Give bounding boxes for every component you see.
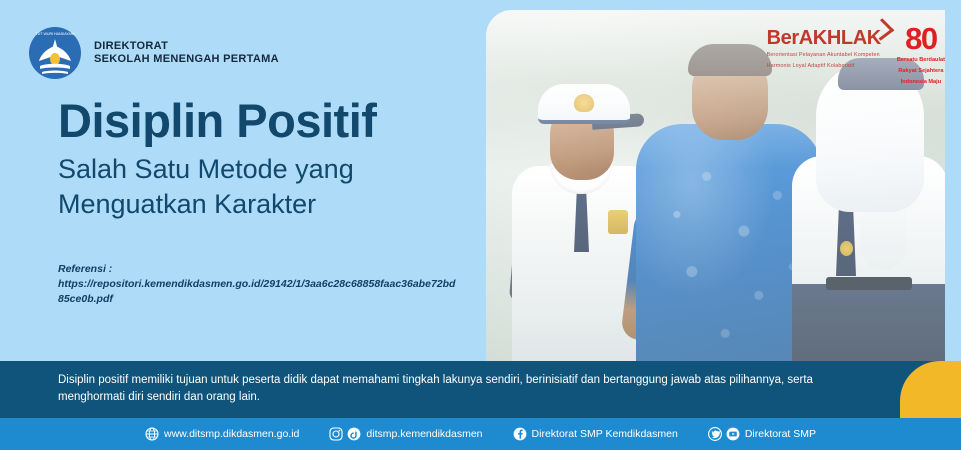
anniversary-tagline-line2: Rakyat Sejahtera bbox=[897, 67, 945, 75]
berakhlak-suffix: AKHLAK bbox=[799, 27, 881, 49]
header-title-group: DIREKTORAT SEKOLAH MENENGAH PERTAMA bbox=[94, 40, 279, 67]
tiktok-icon bbox=[347, 427, 361, 441]
brand-logo-row: BerAKHLAK Berorientasi Pelayanan Akuntab… bbox=[767, 26, 945, 86]
social-media-bar: www.ditsmp.dikdasmen.go.id bbox=[0, 418, 961, 450]
berakhlak-prefix: Ber bbox=[767, 27, 799, 49]
anniversary-tagline-line3: Indonesia Maju bbox=[897, 78, 945, 86]
social-item-instagram-tiktok[interactable]: ditsmp.kemendikdasmen bbox=[329, 427, 482, 441]
globe-icon bbox=[145, 427, 159, 441]
social-item-facebook[interactable]: Direktorat SMP Kemdikdasmen bbox=[513, 427, 678, 441]
social-label-website: www.ditsmp.dikdasmen.go.id bbox=[164, 428, 299, 440]
reference-url[interactable]: https://repositori.kemendikdasmen.go.id/… bbox=[58, 278, 455, 305]
reference-label: Referensi : bbox=[58, 262, 458, 277]
instagram-icon bbox=[329, 427, 343, 441]
page-title: Disiplin Positif bbox=[58, 96, 428, 145]
berakhlak-tagline-line1: Berorientasi Pelayanan Akuntabel Kompete… bbox=[767, 51, 881, 59]
promotional-banner: TUT WURI HANDAYANI DIREKTORAT SEKOLAH ME… bbox=[0, 0, 961, 450]
berakhlak-wordmark: BerAKHLAK bbox=[767, 28, 881, 48]
twitter-icon bbox=[708, 427, 722, 441]
description-text: Disiplin positif memiliki tujuan untuk p… bbox=[58, 372, 878, 407]
banner-header: TUT WURI HANDAYANI DIREKTORAT SEKOLAH ME… bbox=[28, 26, 279, 80]
reference-block: Referensi : https://repositori.kemendikd… bbox=[58, 262, 458, 308]
facebook-icon bbox=[513, 427, 527, 441]
header-line-directorate: DIREKTORAT bbox=[94, 40, 279, 53]
hero-title-block: Disiplin Positif Salah Satu Metode yang … bbox=[58, 96, 428, 221]
berakhlak-logo: BerAKHLAK Berorientasi Pelayanan Akuntab… bbox=[767, 26, 881, 70]
youtube-icon bbox=[726, 427, 740, 441]
social-label-twitter-youtube: Direktorat SMP bbox=[745, 428, 816, 440]
header-line-school-level: SEKOLAH MENENGAH PERTAMA bbox=[94, 53, 279, 66]
berakhlak-tagline-line2: Harmonis Loyal Adaptif Kolaboratif bbox=[767, 62, 881, 70]
description-band: Disiplin positif memiliki tujuan untuk p… bbox=[0, 361, 961, 418]
social-label-instagram-tiktok: ditsmp.kemendikdasmen bbox=[366, 428, 482, 440]
social-item-twitter-youtube[interactable]: Direktorat SMP bbox=[708, 427, 816, 441]
anniversary-number: 80 bbox=[897, 26, 945, 53]
anniversary-tagline-line1: Bersatu Berdaulat bbox=[897, 56, 945, 64]
anniversary-80-logo: 80 Bersatu Berdaulat Rakyat Sejahtera In… bbox=[897, 26, 945, 86]
social-item-website[interactable]: www.ditsmp.dikdasmen.go.id bbox=[145, 427, 299, 441]
svg-text:TUT WURI HANDAYANI: TUT WURI HANDAYANI bbox=[36, 32, 75, 36]
social-label-facebook: Direktorat SMP Kemdikdasmen bbox=[532, 428, 678, 440]
tutwuri-handayani-logo-icon: TUT WURI HANDAYANI bbox=[28, 26, 82, 80]
page-subtitle: Salah Satu Metode yang Menguatkan Karakt… bbox=[58, 152, 428, 221]
